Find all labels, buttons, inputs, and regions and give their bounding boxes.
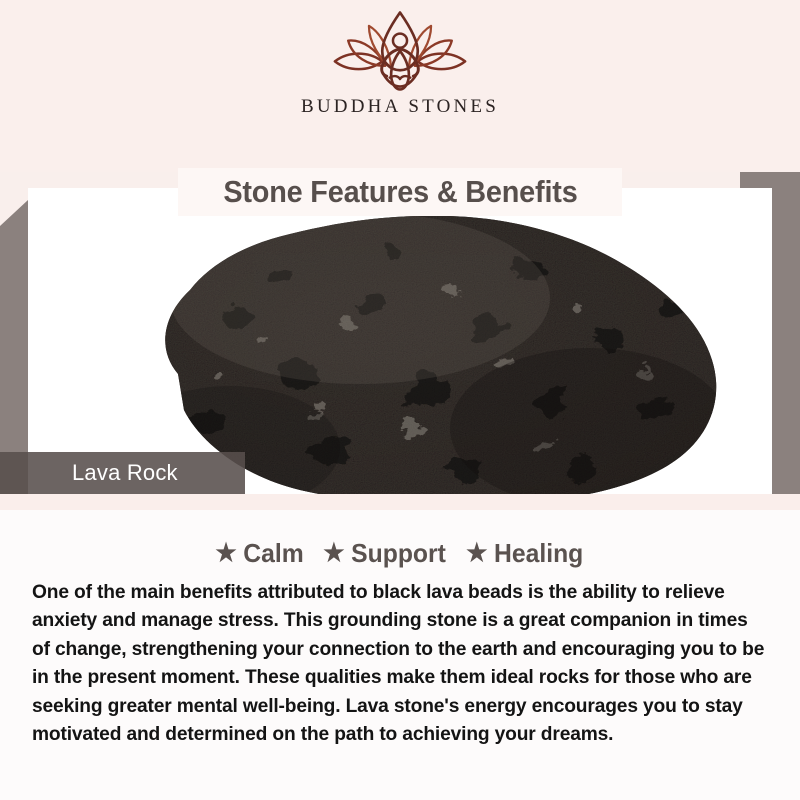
divider-strip [0,494,800,510]
keyword-support: ★ Support [324,538,447,569]
keyword-label: Healing [494,538,583,569]
brand-header: BUDDHA STONES [0,0,800,172]
star-icon: ★ [216,541,237,566]
body-block: ★ Calm ★ Support ★ Healing One of the ma… [0,510,800,800]
brand-logo: BUDDHA STONES [0,8,800,118]
keyword-healing: ★ Healing [466,538,583,569]
hero-caption-label: Lava Rock [72,460,178,486]
content-card: Lava Rock [28,28,772,770]
hero-caption-band: Lava Rock [0,452,245,494]
body-paragraph: One of the main benefits attributed to b… [32,579,768,749]
stone-features-infographic: Lava Rock [0,0,800,800]
keyword-label: Support [351,538,446,569]
star-icon: ★ [324,541,345,566]
page-title: Stone Features & Benefits [223,174,577,210]
keyword-calm: ★ Calm [216,538,304,569]
lotus-meditation-icon [326,8,474,94]
brand-name: BUDDHA STONES [301,96,499,118]
keyword-row: ★ Calm ★ Support ★ Healing [0,510,800,569]
star-icon: ★ [466,541,487,566]
keyword-label: Calm [244,538,304,569]
title-plate: Stone Features & Benefits [178,168,622,216]
